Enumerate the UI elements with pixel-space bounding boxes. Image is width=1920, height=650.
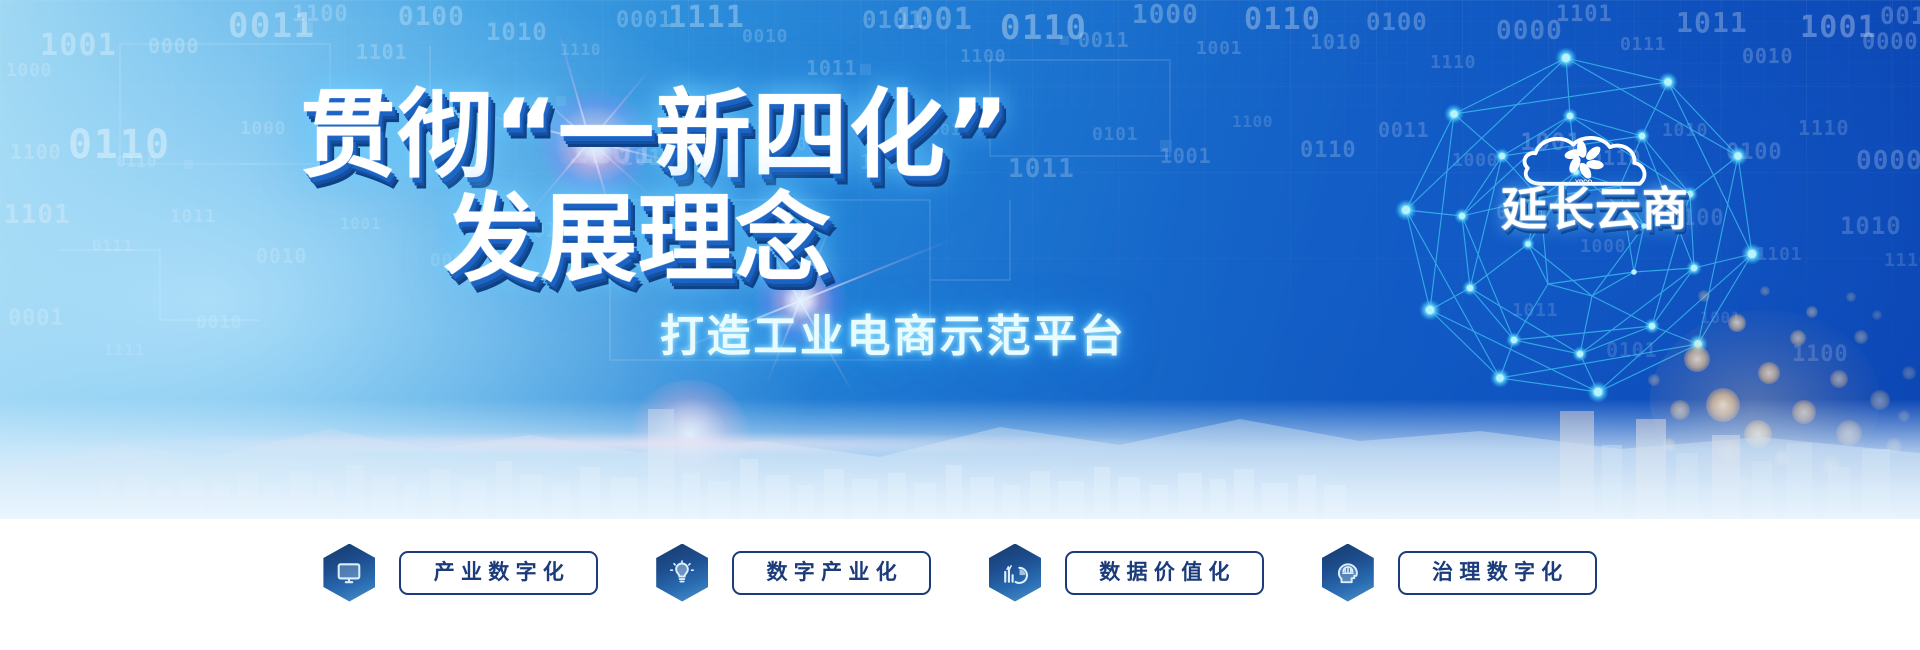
feature-label-1[interactable]: 产业数字化 xyxy=(399,551,598,595)
feature-bar: 产业数字化数字产业化数据价值化治理数字化 xyxy=(0,519,1920,650)
feature-label-2[interactable]: 数字产业化 xyxy=(732,551,931,595)
hero-section: 1001000000111100011010000100110110101110… xyxy=(0,0,1920,519)
bokeh-dot xyxy=(1790,330,1806,346)
feature-item[interactable]: 治理数字化 xyxy=(1322,544,1597,602)
monitor-icon xyxy=(323,544,375,602)
bokeh-dot xyxy=(1872,310,1882,320)
bokeh-dot xyxy=(1698,290,1710,302)
bokeh-dot xyxy=(1846,292,1856,302)
feature-item[interactable]: 数字产业化 xyxy=(656,544,931,602)
feature-item[interactable]: 产业数字化 xyxy=(323,544,598,602)
brand-logo: YPCO 延长云商 xyxy=(1500,133,1690,239)
feature-label-3[interactable]: 数据价值化 xyxy=(1065,551,1264,595)
feature-list: 产业数字化数字产业化数据价值化治理数字化 xyxy=(323,544,1596,602)
bokeh-dot xyxy=(1806,306,1818,318)
horizon-mist xyxy=(0,399,1920,519)
brain-head-icon xyxy=(1322,544,1374,602)
bokeh-dot xyxy=(1854,330,1868,344)
bar-chart-icon xyxy=(989,544,1041,602)
promo-banner: 1001000000111100011010000100110110101110… xyxy=(0,0,1920,650)
bokeh-dot xyxy=(1760,286,1770,296)
logo-wordmark: 延长云商 xyxy=(1500,173,1690,239)
feature-label-4[interactable]: 治理数字化 xyxy=(1398,551,1597,595)
lightbulb-icon xyxy=(656,544,708,602)
feature-item[interactable]: 数据价值化 xyxy=(989,544,1264,602)
bokeh-dot xyxy=(1728,314,1746,332)
